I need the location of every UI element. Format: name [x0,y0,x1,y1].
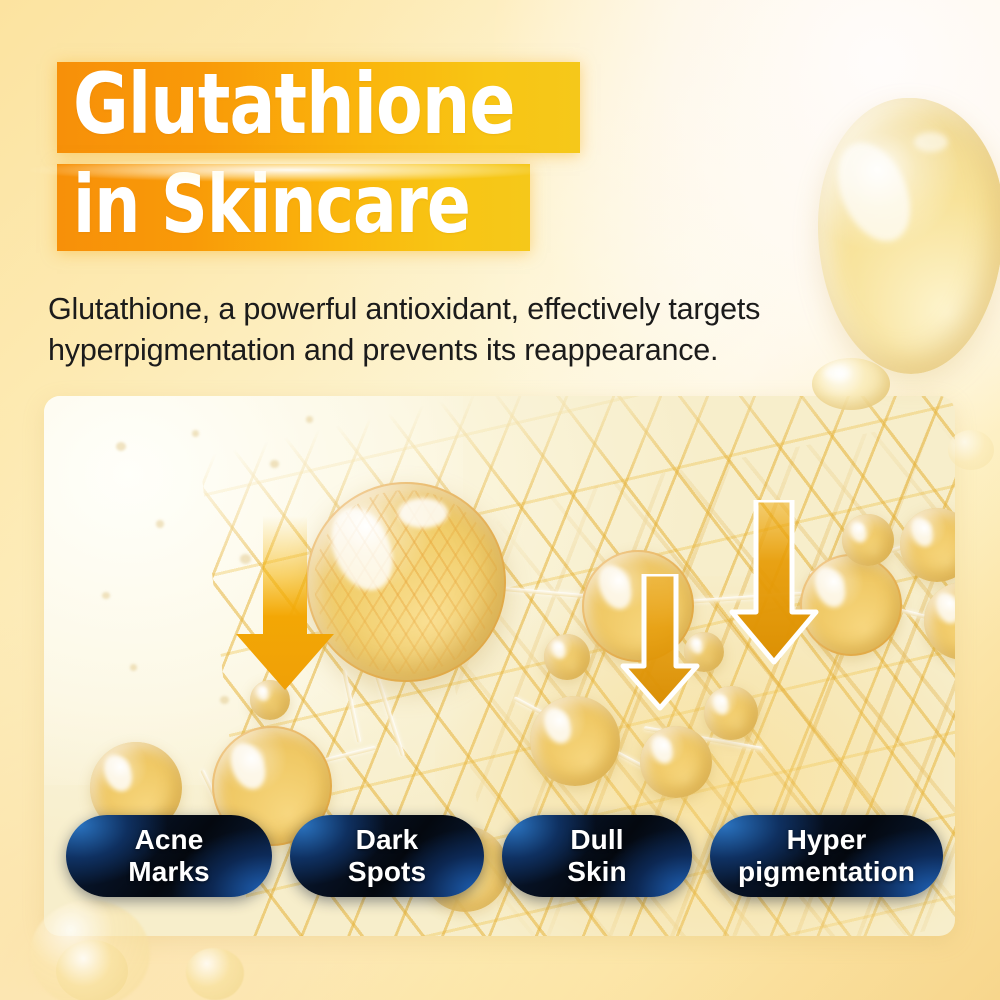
benefit-pill-acne-marks[interactable]: Acne Marks [66,815,272,897]
glutathione-molecule [842,514,894,566]
absorption-arrow-3 [726,500,822,668]
title-line-1: Glutathione [57,62,580,153]
title-line-2: in Skincare [57,164,530,251]
pore-dot [156,520,164,528]
specular-highlight [539,704,576,748]
pore-dot [130,664,137,671]
specular-highlight [99,751,137,796]
glutathione-molecule [704,686,758,740]
benefit-pill-line-2: Spots [348,856,426,888]
title-line-1-text: Glutathione [73,65,515,144]
droplet-bottom-left-2 [56,940,128,1000]
poster-canvas: Glutathione in Skincare Glutathione, a p… [0,0,1000,1000]
droplet-bottom-left-3 [186,948,244,1000]
specular-highlight [549,638,568,660]
pore-dot [306,416,313,423]
benefit-pill-line-1: Acne [128,824,209,856]
absorption-arrow-1 [230,516,340,696]
benefit-pill-line-2: Marks [128,856,209,888]
benefit-pill-line-2: Skin [567,856,627,888]
glutathione-molecule [640,726,712,798]
benefit-pill-group: Acne Marks Dark Spots Dull Skin Hyper pi… [66,815,946,897]
pore-dot [192,430,199,437]
glutathione-molecule [544,634,590,680]
title-line-2-text: in Skincare [73,167,470,242]
specular-highlight [709,691,731,717]
pore-dot [102,592,110,599]
benefit-pill-dark-spots[interactable]: Dark Spots [290,815,484,897]
benefit-pill-hyperpigmentation[interactable]: Hyper pigmentation [710,815,943,897]
glutathione-molecule [530,696,620,786]
subtitle: Glutathione, a powerful antioxidant, eff… [48,289,878,371]
benefit-pill-line-1: Hyper [738,824,915,856]
subtitle-line-2: hyperpigmentation and prevents its reapp… [48,330,878,371]
specular-highlight [847,519,869,545]
absorption-arrow-2 [618,574,702,714]
benefit-pill-dull-skin[interactable]: Dull Skin [502,815,692,897]
page-title: Glutathione in Skincare [57,62,1000,251]
benefit-pill-line-1: Dark [348,824,426,856]
specular-highlight [907,514,937,549]
pore-dot [116,442,126,451]
specular-highlight [647,732,676,766]
subtitle-line-1: Glutathione, a powerful antioxidant, eff… [48,289,878,330]
benefit-pill-line-1: Dull [567,824,627,856]
specular-highlight [932,589,955,627]
benefit-pill-line-2: pigmentation [738,856,915,888]
